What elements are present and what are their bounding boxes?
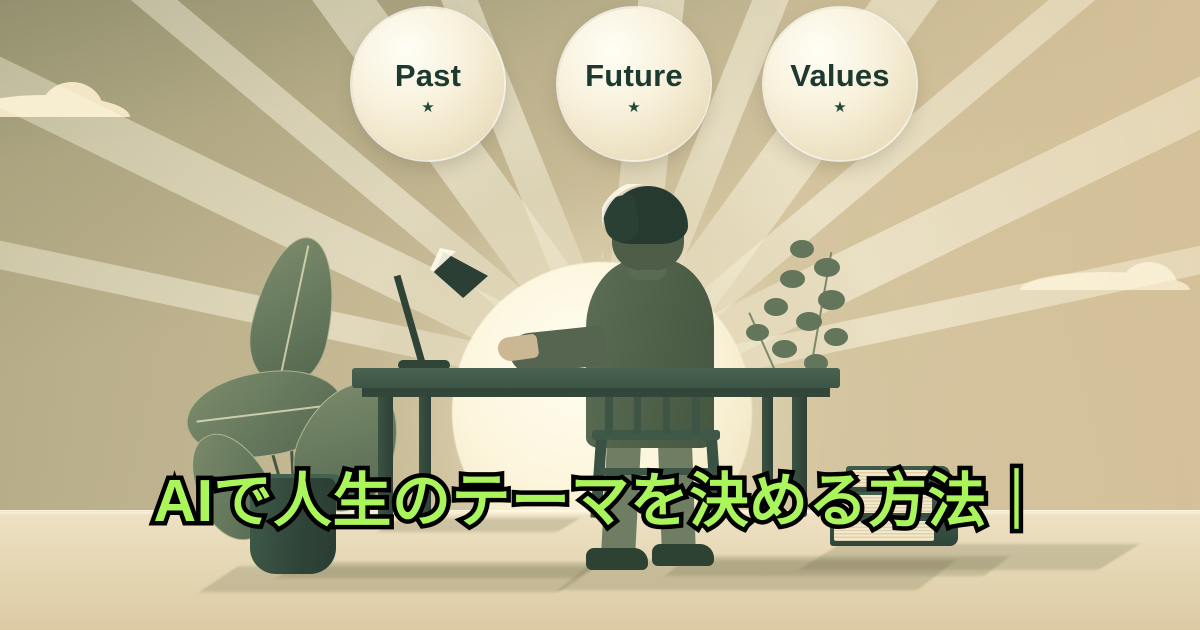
badge-row: Past ★ Future ★ Values ★: [0, 0, 1200, 175]
star-icon: ★: [833, 100, 846, 115]
title-line-1: AIで人生のテーマを決める方法｜: [0, 458, 1200, 544]
thumbnail-canvas: Past ★ Future ★ Values ★ AIで人生のテーマを決める方法…: [0, 0, 1200, 630]
badge-label: Future: [585, 60, 683, 91]
badge-label: Values: [790, 60, 889, 91]
badge-past[interactable]: Past ★: [352, 8, 504, 160]
badge-label: Past: [395, 60, 461, 91]
page-title: AIで人生のテーマを決める方法｜ 物語のある目標設定術: [0, 286, 1200, 630]
badge-values[interactable]: Values ★: [764, 8, 916, 160]
badge-future[interactable]: Future ★: [558, 8, 710, 160]
star-icon: ★: [421, 100, 434, 115]
star-icon: ★: [627, 100, 640, 115]
